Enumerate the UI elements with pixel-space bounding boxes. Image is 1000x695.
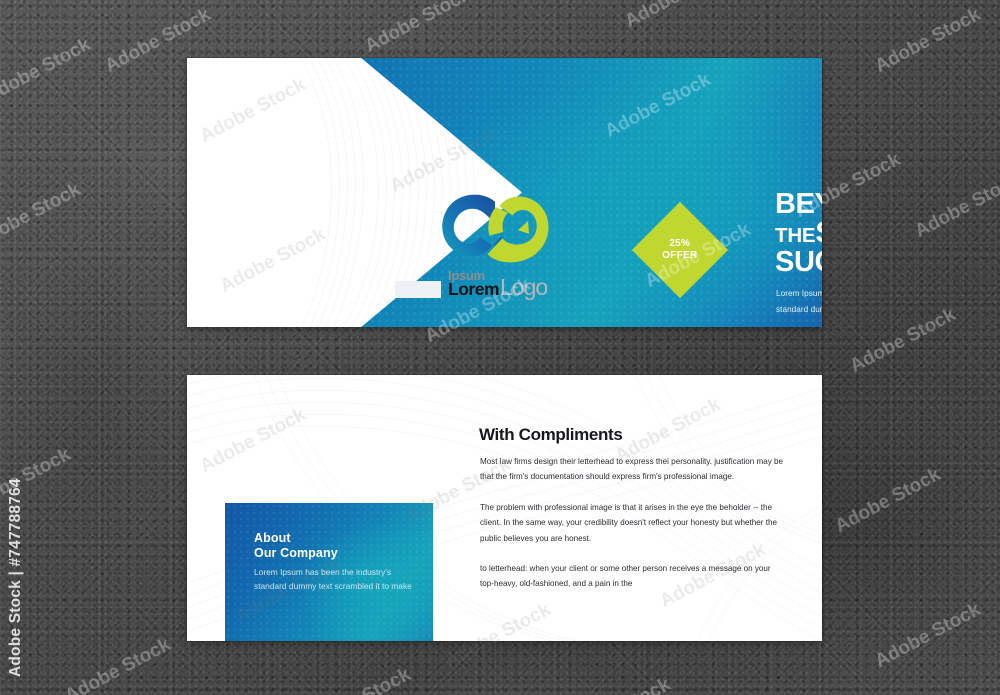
headline-line-3: SUCCESS bbox=[775, 248, 822, 277]
banner-subtext-line-2: standard dummy text ever bbox=[776, 302, 822, 318]
offer-percent: 25% bbox=[662, 238, 697, 250]
banner-card-front: 25% OFFER BEYOND THESTORYOF SUCCESS Lore… bbox=[187, 58, 822, 327]
banner-headline: BEYOND THESTORYOF SUCCESS bbox=[775, 191, 822, 277]
banner-subtext: Lorem Ipsum has been the industry's stan… bbox=[776, 286, 822, 318]
logo-lorem-text: Lorem bbox=[448, 281, 499, 299]
offer-badge-content: 25% OFFER bbox=[662, 238, 697, 262]
about-title-line-1: About bbox=[254, 531, 338, 546]
headline-line-1: BEYOND bbox=[775, 191, 822, 219]
logo-wordmark: Ipsum Lorem Logo bbox=[437, 269, 575, 299]
compliments-paragraph: Most law firms design their letterhead t… bbox=[480, 454, 785, 485]
logo-logo-text: Logo bbox=[500, 277, 547, 298]
compliments-paragraph: The problem with professional image is t… bbox=[480, 500, 785, 546]
about-company-title: About Our Company bbox=[254, 531, 338, 561]
about-title-line-2: Our Company bbox=[254, 546, 338, 561]
about-company-panel: About Our Company Lorem Ipsum has been t… bbox=[225, 503, 433, 641]
headline-the: THE bbox=[775, 224, 815, 247]
stock-credit-text: Adobe Stock | #747788764 bbox=[7, 478, 25, 677]
company-logo: Ipsum Lorem Logo bbox=[437, 186, 575, 298]
compliments-body: Most law firms design their letterhead t… bbox=[480, 454, 785, 592]
headline-line-2: THESTORYOF bbox=[775, 219, 822, 249]
headline-story: STORY bbox=[815, 217, 822, 249]
infinity-loop-mark bbox=[437, 186, 575, 271]
logo-accent-swatch bbox=[395, 281, 441, 298]
offer-label: OFFER bbox=[662, 250, 697, 262]
stock-credit: Adobe Stock | #747788764 bbox=[12, 0, 38, 695]
letterhead-card-back: About Our Company Lorem Ipsum has been t… bbox=[187, 375, 822, 641]
compliments-title: With Compliments bbox=[479, 425, 622, 445]
compliments-paragraph: to letterhead: when your client or some … bbox=[480, 561, 785, 592]
banner-subtext-line-1: Lorem Ipsum has been the industry's bbox=[776, 286, 822, 302]
about-company-body: Lorem Ipsum has been the industry's stan… bbox=[254, 565, 412, 593]
